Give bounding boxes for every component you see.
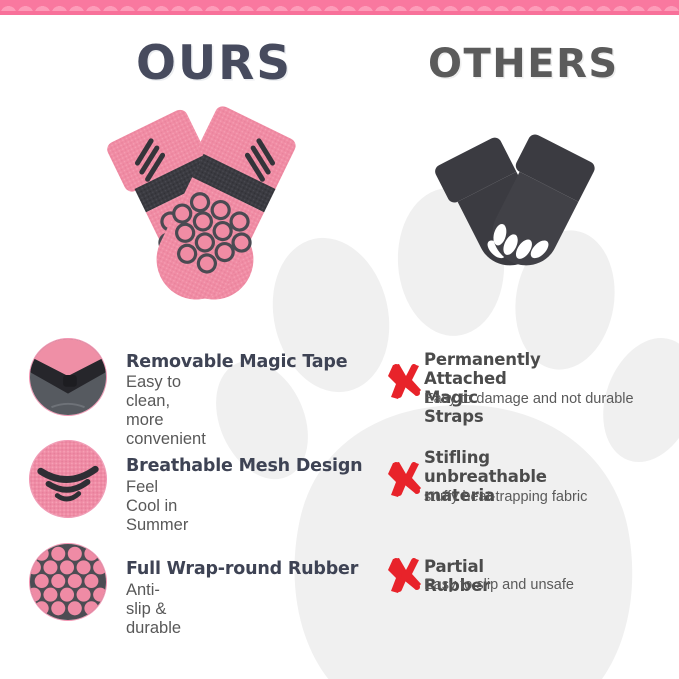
red-cross-icon <box>386 461 424 497</box>
band-scallop-pattern <box>0 0 679 11</box>
red-cross-icon <box>386 363 424 399</box>
comparison-infographic: OURS OTHERS <box>0 0 679 679</box>
others-feature-sub-3: Easy to slip and unsafe <box>424 577 574 593</box>
ours-feature-sub-3: Anti-slip & durable <box>126 581 181 638</box>
others-feature-sub-1: Easy to damage and not durable <box>424 391 634 407</box>
ours-feature-title-3: Full Wrap-round Rubber <box>126 559 358 579</box>
ours-heading: OURS <box>136 36 292 91</box>
ours-feature-title-1: Removable Magic Tape <box>126 352 347 372</box>
band-bottom-stripe <box>0 11 679 15</box>
others-heading: OTHERS <box>428 41 619 87</box>
top-decorative-band <box>0 0 679 15</box>
thumbnail-breathable-mesh <box>29 440 107 518</box>
ours-feature-sub-2: Feel Cool in Summer <box>126 478 188 535</box>
ours-product-image <box>86 100 324 315</box>
thumbnail-honeycomb-rubber <box>29 543 107 621</box>
thumbnail-removable-magic-tape <box>29 338 107 416</box>
ours-feature-sub-1: Easy to clean, more convenient <box>126 373 206 449</box>
others-feature-sub-2: stuffy heat-trapping fabric <box>424 489 587 505</box>
ours-feature-title-2: Breathable Mesh Design <box>126 456 362 476</box>
others-product-image <box>428 128 608 288</box>
others-feature-title-1: Permanently Attached Magic Straps <box>424 350 541 426</box>
red-cross-icon <box>386 557 424 593</box>
